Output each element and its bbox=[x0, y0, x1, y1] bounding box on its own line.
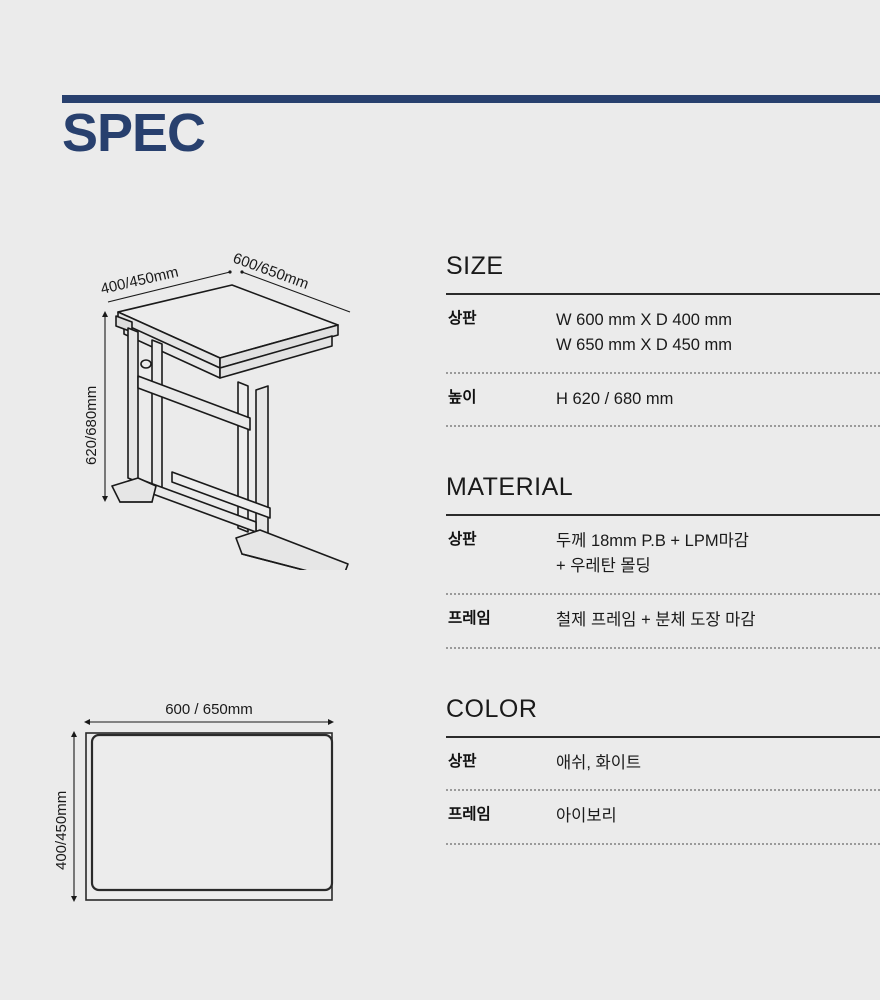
table-row: 프레임 철제 프레임 + 분체 도장 마감 bbox=[446, 595, 880, 649]
table-row: 상판 두께 18mm P.B + LPM마감 + 우레탄 몰딩 bbox=[446, 516, 880, 595]
desk-top-view-drawing: 600 / 650mm 400/450mm bbox=[40, 690, 380, 920]
spec-value: 아이보리 bbox=[556, 804, 880, 829]
section-title-size: SIZE bbox=[446, 252, 880, 293]
spec-value: 철제 프레임 + 분체 도장 마감 bbox=[556, 608, 880, 633]
spec-section-color: COLOR 상판 애쉬, 화이트 프레임 아이보리 bbox=[446, 695, 880, 846]
table-row: 높이 H 620 / 680 mm bbox=[446, 374, 880, 428]
spec-label: 높이 bbox=[446, 387, 556, 409]
section-title-color: COLOR bbox=[446, 695, 880, 736]
spec-label: 상판 bbox=[446, 751, 556, 773]
spec-value: 애쉬, 화이트 bbox=[556, 751, 880, 776]
spec-label: 상판 bbox=[446, 308, 556, 330]
table-row: 상판 W 600 mm X D 400 mm W 650 mm X D 450 … bbox=[446, 295, 880, 374]
dimension-label-height-perspective: 620/680mm bbox=[83, 386, 100, 465]
section-title-material: MATERIAL bbox=[446, 473, 880, 514]
spec-value: W 600 mm X D 400 mm W 650 mm X D 450 mm bbox=[556, 308, 880, 358]
table-row: 상판 애쉬, 화이트 bbox=[446, 738, 880, 792]
header-accent-rule bbox=[62, 95, 880, 103]
table-row: 프레임 아이보리 bbox=[446, 791, 880, 845]
spec-label: 프레임 bbox=[446, 804, 556, 826]
spec-section-material: MATERIAL 상판 두께 18mm P.B + LPM마감 + 우레탄 몰딩… bbox=[446, 473, 880, 648]
spec-label: 프레임 bbox=[446, 608, 556, 630]
dimension-label-depth-perspective: 400/450mm bbox=[99, 264, 180, 298]
desk-perspective-drawing: 400/450mm 600/650mm 620/680mm bbox=[60, 250, 390, 570]
spec-value: H 620 / 680 mm bbox=[556, 387, 880, 412]
spec-label: 상판 bbox=[446, 529, 556, 551]
spec-tables: SIZE 상판 W 600 mm X D 400 mm W 650 mm X D… bbox=[446, 252, 880, 845]
dimension-label-depth-plan: 400/450mm bbox=[53, 791, 70, 870]
spec-section-size: SIZE 상판 W 600 mm X D 400 mm W 650 mm X D… bbox=[446, 252, 880, 427]
page-title: SPEC bbox=[62, 104, 205, 163]
dimension-label-width-plan: 600 / 650mm bbox=[165, 701, 253, 718]
spec-value: 두께 18mm P.B + LPM마감 + 우레탄 몰딩 bbox=[556, 529, 880, 579]
